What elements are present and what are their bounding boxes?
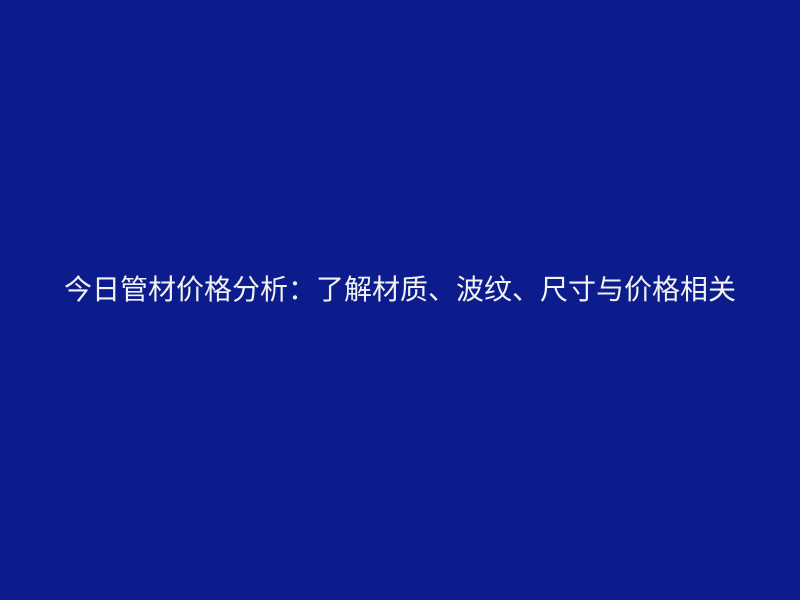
title-card: 今日管材价格分析：了解材质、波纹、尺寸与价格相关 — [0, 0, 800, 600]
page-title: 今日管材价格分析：了解材质、波纹、尺寸与价格相关 — [50, 264, 750, 315]
title-text-block: 今日管材价格分析：了解材质、波纹、尺寸与价格相关 — [50, 0, 750, 600]
